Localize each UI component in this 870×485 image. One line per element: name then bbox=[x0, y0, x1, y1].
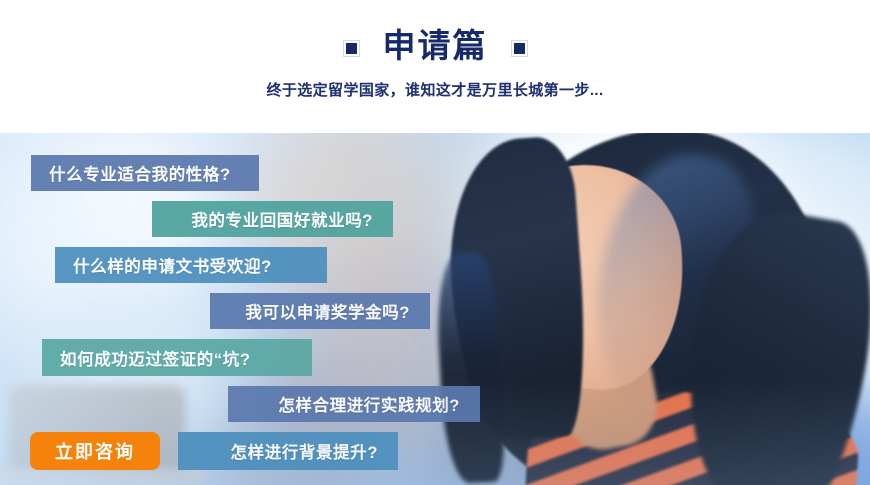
promo-banner: 申请篇 终于选定留学国家，谁知这才是万里长城第一步... bbox=[0, 0, 870, 485]
question-bubble-1-label: 什么专业适合我的性格? bbox=[49, 161, 231, 185]
question-bubble-2[interactable]: 我的专业回国好就业吗? bbox=[152, 201, 393, 237]
question-bubble-2-label: 我的专业回国好就业吗? bbox=[191, 207, 373, 231]
question-bubble-6[interactable]: 怎样合理进行实践规划? bbox=[228, 386, 480, 422]
title-row: 申请篇 bbox=[0, 26, 870, 66]
question-bubble-1[interactable]: 什么专业适合我的性格? bbox=[31, 155, 259, 191]
question-bubble-3-label: 什么样的申请文书受欢迎? bbox=[73, 253, 272, 277]
question-bubble-3[interactable]: 什么样的申请文书受欢迎? bbox=[55, 247, 327, 283]
question-bubble-4-label: 我可以申请奖学金吗? bbox=[245, 299, 410, 323]
background-photo: 什么专业适合我的性格? 我的专业回国好就业吗? 什么样的申请文书受欢迎? 我可以… bbox=[0, 133, 870, 485]
question-bubble-7-label: 怎样进行背景提升? bbox=[231, 439, 378, 463]
banner-header: 申请篇 终于选定留学国家，谁知这才是万里长城第一步... bbox=[0, 0, 870, 133]
square-bullet-right-icon bbox=[514, 43, 525, 54]
page-title: 申请篇 bbox=[383, 26, 488, 66]
consult-now-label: 立即咨询 bbox=[55, 438, 135, 464]
blurred-laptop-base bbox=[0, 469, 204, 483]
question-bubble-5-label: 如何成功迈过签证的“坑? bbox=[60, 346, 251, 370]
question-bubble-7[interactable]: 怎样进行背景提升? bbox=[178, 432, 398, 470]
page-subtitle: 终于选定留学国家，谁知这才是万里长城第一步... bbox=[0, 80, 870, 102]
question-bubble-6-label: 怎样合理进行实践规划? bbox=[278, 392, 460, 416]
question-bubble-5[interactable]: 如何成功迈过签证的“坑? bbox=[42, 339, 312, 376]
consult-now-button[interactable]: 立即咨询 bbox=[30, 432, 160, 470]
square-bullet-left-icon bbox=[346, 43, 357, 54]
question-bubble-4[interactable]: 我可以申请奖学金吗? bbox=[210, 293, 430, 329]
